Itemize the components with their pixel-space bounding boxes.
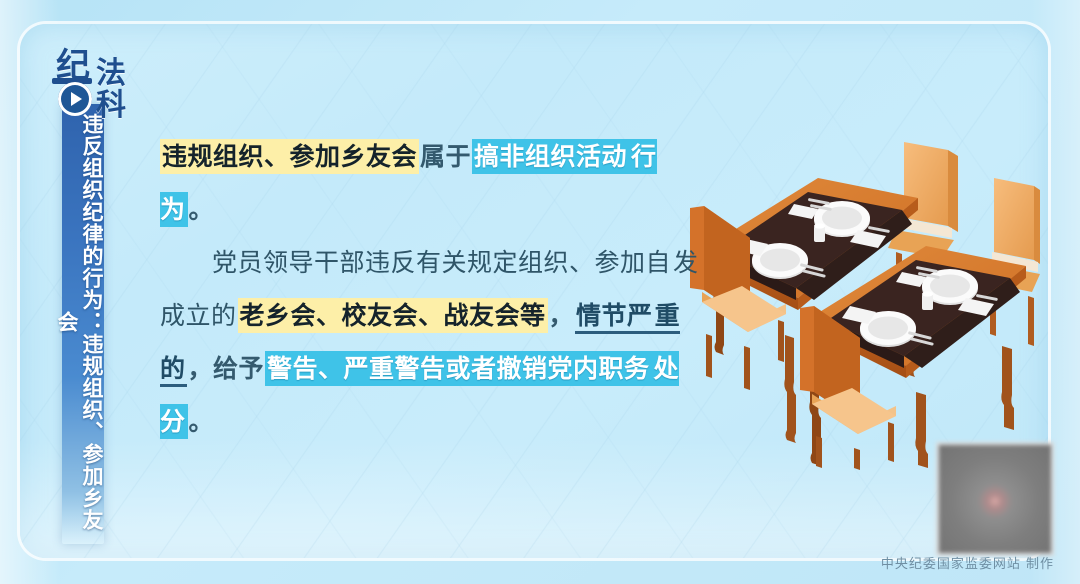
p1-period: 。 xyxy=(188,193,216,226)
vertical-title-text: 违反组织纪律的行为：违规组织、参加乡友会 xyxy=(62,112,104,532)
logo-char-ke: 科 xyxy=(96,80,126,124)
p1-highlight-yellow: 违规组织、参加乡友会 xyxy=(160,139,419,174)
p2-period: 。 xyxy=(188,405,216,438)
paragraph-1: 违规组织、参加乡友会属于搞非组织活动行为。 xyxy=(160,130,705,236)
p1-plain-a: 属于 xyxy=(419,140,472,173)
p2-plain-c: ，给予 xyxy=(187,352,266,385)
p2-plain-a: 党员领导干部违反有关规定组织、参加自 xyxy=(160,246,672,279)
p2-underline-a: 情节严 xyxy=(575,299,654,334)
play-triangle-icon xyxy=(71,92,82,106)
p1-highlight-cyan-a: 搞非组织活动 xyxy=(472,139,629,174)
vertical-title-banner: 违反组织纪律的行为：违规组织、参加乡友会 xyxy=(62,104,104,544)
credit-text: 中央纪委国家监委网站 制作 xyxy=(881,553,1054,572)
poster-canvas: 纪 法 科 违反组织纪律的行为：违规组织、参加乡友会 违规组织、参加乡友会属于搞… xyxy=(0,0,1080,584)
banquet-tables-illustration xyxy=(690,140,1040,470)
paragraph-2: 党员领导干部违反有关规定组织、参加自发成立的老乡会、校友会、战友会等，情节严重的… xyxy=(160,236,705,448)
body-copy: 违规组织、参加乡友会属于搞非组织活动行为。 党员领导干部违反有关规定组织、参加自… xyxy=(160,130,705,448)
blurred-watermark xyxy=(936,442,1054,556)
p2-comma: ， xyxy=(548,299,576,332)
p2-highlight-yellow: 老乡会、校友会、战友会等 xyxy=(238,298,548,333)
program-logo: 纪 法 科 xyxy=(52,38,172,118)
p2-highlight-cyan-a: 警告、严重警告或者撤销党内职务 xyxy=(265,351,652,386)
